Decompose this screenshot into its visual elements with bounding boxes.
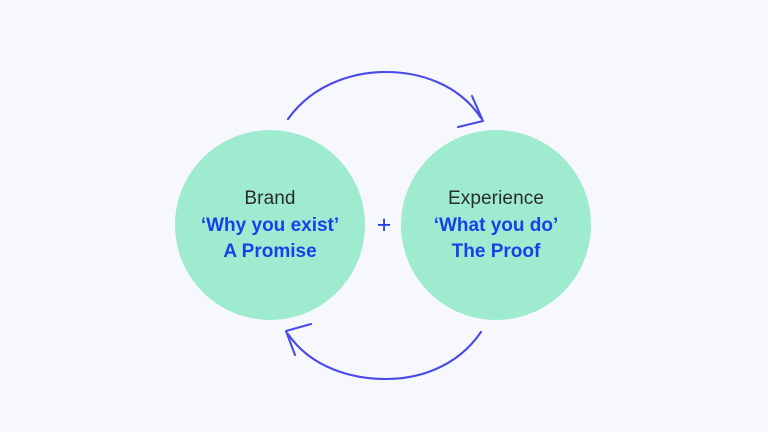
node-subtitle-brand: ‘Why you exist’ bbox=[201, 216, 339, 235]
node-caption-experience: The Proof bbox=[452, 242, 541, 261]
node-caption-brand: A Promise bbox=[223, 242, 316, 261]
bottom-arrow-curve bbox=[288, 332, 481, 379]
node-subtitle-experience: ‘What you do’ bbox=[434, 216, 559, 235]
top-arrow-head bbox=[458, 96, 483, 127]
top-arrow bbox=[288, 72, 483, 127]
node-circle-experience[interactable]: Experience ‘What you do’ The Proof bbox=[401, 130, 591, 320]
plus-operator-icon: + bbox=[371, 208, 397, 242]
bottom-arrow bbox=[286, 324, 481, 379]
bottom-arrow-head bbox=[286, 324, 311, 355]
node-title-brand: Brand bbox=[244, 189, 295, 208]
node-circle-brand[interactable]: Brand ‘Why you exist’ A Promise bbox=[175, 130, 365, 320]
diagram-canvas: Brand ‘Why you exist’ A Promise + Experi… bbox=[0, 0, 768, 432]
node-title-experience: Experience bbox=[448, 189, 544, 208]
top-arrow-curve bbox=[288, 72, 481, 119]
